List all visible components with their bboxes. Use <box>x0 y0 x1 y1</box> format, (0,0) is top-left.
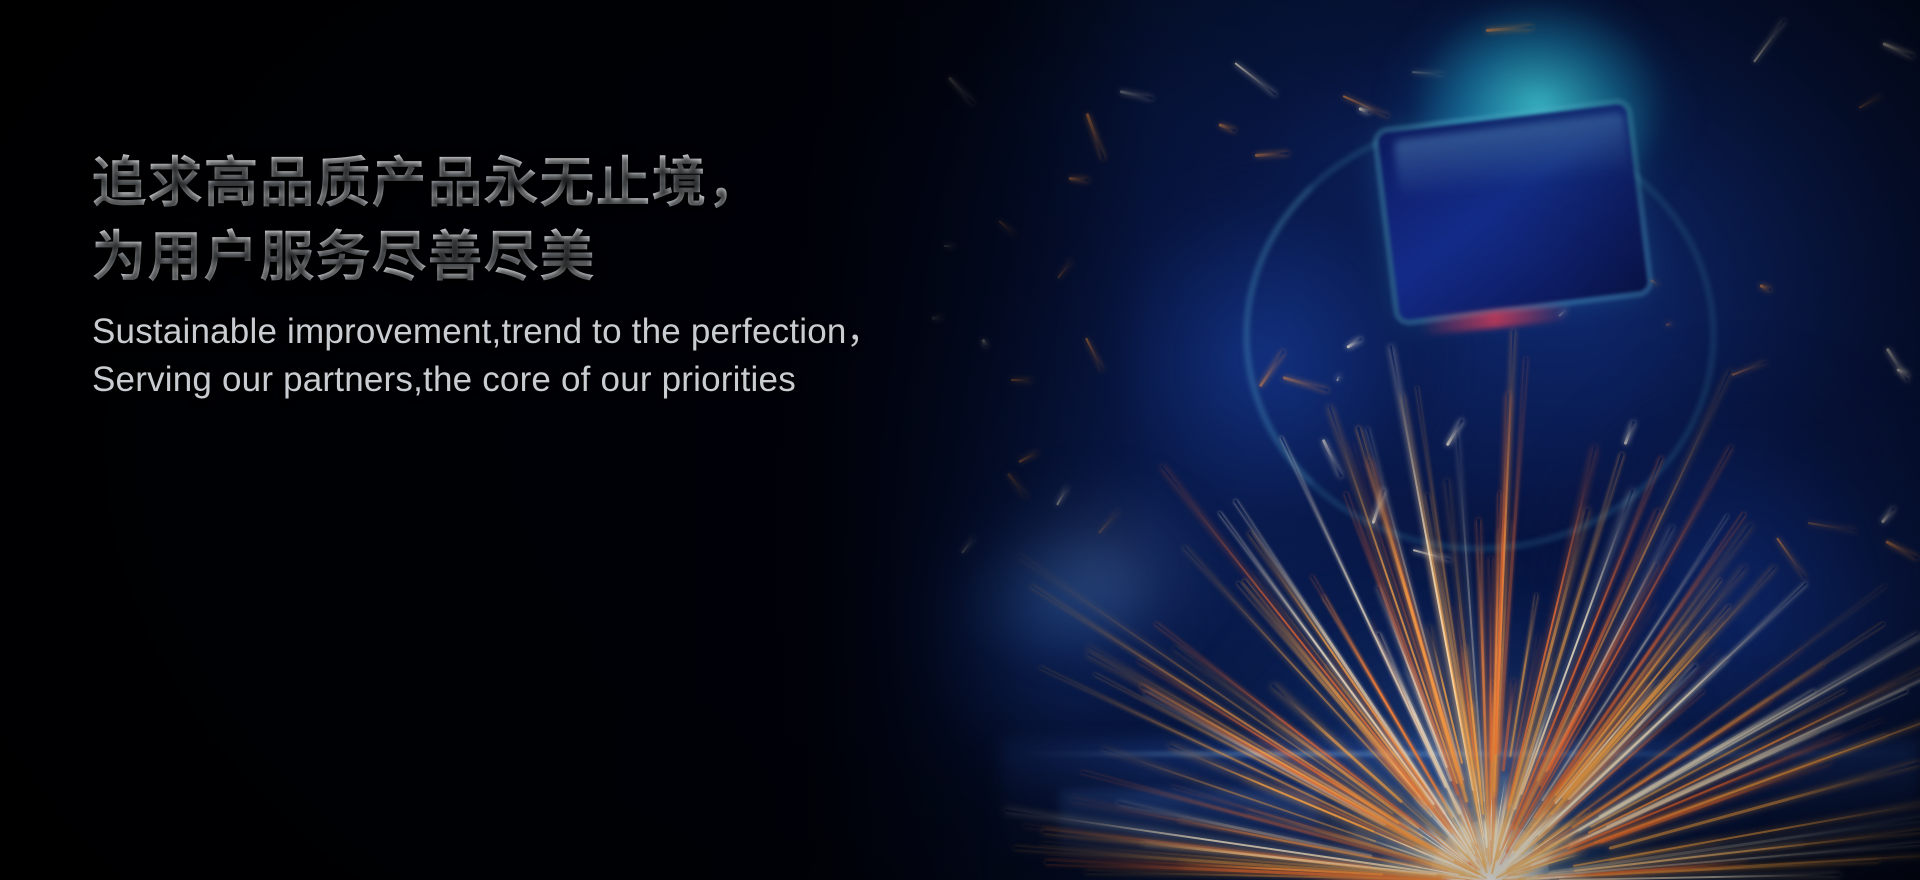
spark <box>1500 845 1538 873</box>
ember <box>1732 361 1767 376</box>
spark <box>1503 850 1550 875</box>
spark <box>1598 690 1815 819</box>
spark <box>1539 563 1659 787</box>
spark <box>1381 732 1473 858</box>
spark <box>1495 452 1623 860</box>
spark <box>1086 653 1480 876</box>
spark <box>1577 606 1920 832</box>
spark <box>1590 689 1846 827</box>
spark <box>1515 862 1549 873</box>
spark <box>1085 871 1444 880</box>
spark <box>1045 861 1480 880</box>
spark <box>1219 512 1435 805</box>
spark <box>1161 466 1434 810</box>
spark <box>1140 685 1470 871</box>
spark <box>1449 837 1480 870</box>
spark <box>1440 872 1481 880</box>
spark <box>1406 667 1452 781</box>
spark <box>1494 774 1507 851</box>
welding-helmet-visor-gloss <box>1393 112 1631 200</box>
spark <box>1520 834 1571 864</box>
spark <box>1519 873 1562 879</box>
spark <box>1045 856 1398 877</box>
spark <box>1351 833 1452 869</box>
spark <box>1524 761 1599 844</box>
spark <box>1492 729 1502 839</box>
ember <box>1776 537 1806 578</box>
spark <box>1373 738 1452 834</box>
ember <box>1120 90 1154 100</box>
spark <box>1243 580 1451 834</box>
spark <box>1504 848 1574 877</box>
subtitle-line-1: Sustainable improvement,trend to the per… <box>92 308 1072 356</box>
spark <box>1506 706 1577 847</box>
spark <box>1536 369 1731 781</box>
spark <box>1490 804 1508 875</box>
ember <box>1086 113 1106 160</box>
spark <box>1402 395 1479 815</box>
spark <box>1570 742 1605 784</box>
spark <box>1545 527 1673 773</box>
spark <box>1609 839 1719 861</box>
spark <box>1521 823 1560 856</box>
spark <box>1524 853 1578 871</box>
spark <box>1422 867 1475 878</box>
spark <box>1508 820 1556 864</box>
spark <box>1368 619 1481 860</box>
spark <box>1458 828 1476 856</box>
ember <box>1098 510 1119 534</box>
spark <box>1505 445 1732 853</box>
spark <box>1483 830 1487 848</box>
spark <box>1042 830 1480 880</box>
spark <box>1554 578 1721 796</box>
spark <box>1457 818 1472 844</box>
spark <box>1492 804 1498 845</box>
spark <box>1507 523 1752 858</box>
spark <box>1071 799 1466 877</box>
spark <box>1568 689 1907 846</box>
spark <box>1559 635 1674 789</box>
spark <box>1465 647 1481 787</box>
spark <box>1519 841 1576 868</box>
spark <box>1521 490 1634 795</box>
spark <box>1489 556 1491 865</box>
spark <box>1576 650 1802 818</box>
spark <box>1247 811 1465 875</box>
spark <box>1501 659 1550 837</box>
spark <box>1497 832 1543 875</box>
spark <box>1442 861 1486 880</box>
spark <box>1574 830 1920 872</box>
spark <box>1454 605 1475 759</box>
spark <box>1513 684 1650 852</box>
spark <box>1431 847 1454 862</box>
spark <box>1479 848 1487 868</box>
spark <box>1465 810 1485 866</box>
spark <box>1546 658 1728 829</box>
workpiece-table <box>1000 740 1920 880</box>
spark <box>1421 821 1465 859</box>
spark <box>1487 807 1491 867</box>
spark <box>1479 551 1490 862</box>
spark <box>1005 809 1453 876</box>
spark <box>1416 847 1483 879</box>
spark <box>1500 635 1540 829</box>
ember <box>1255 152 1289 157</box>
spark <box>1415 796 1468 855</box>
spark <box>1491 828 1500 869</box>
spark <box>1439 845 1487 879</box>
ember <box>1283 376 1329 392</box>
banner-copy: 追求高品质产品永无止境， 为用户服务尽善尽美 Sustainable impro… <box>92 146 1072 404</box>
spark <box>1588 665 1920 833</box>
spark <box>1467 805 1486 867</box>
spark <box>1506 796 1720 877</box>
spark <box>1509 593 1537 756</box>
spark <box>1571 622 1885 829</box>
spark <box>1117 802 1372 858</box>
background-base <box>0 0 1920 880</box>
spark <box>1040 843 1446 878</box>
spark <box>1486 810 1490 861</box>
spark <box>1509 836 1586 872</box>
subtitle-line-2: Serving our partners,the core of our pri… <box>92 356 1072 404</box>
spark <box>1373 831 1450 865</box>
ember <box>1759 284 1771 291</box>
spark <box>1609 762 1920 850</box>
ember <box>1259 350 1286 387</box>
spark <box>1522 623 1622 817</box>
spark <box>1464 822 1485 868</box>
spark <box>1426 494 1487 856</box>
ember <box>1666 322 1673 326</box>
spark <box>1561 811 1643 849</box>
ember <box>1007 473 1028 498</box>
spark <box>1094 673 1477 874</box>
spark <box>1483 816 1488 845</box>
spark <box>1243 776 1428 855</box>
spark <box>1086 644 1386 820</box>
spark <box>1553 566 1745 802</box>
spark <box>1546 632 1919 849</box>
spark <box>1254 573 1428 800</box>
spark <box>1522 877 1563 880</box>
ember <box>1859 94 1883 109</box>
spark <box>1531 626 1687 828</box>
spark <box>1537 582 1807 836</box>
spark <box>1234 500 1446 815</box>
spark <box>1492 492 1500 763</box>
spark <box>1024 825 1372 867</box>
spark <box>1416 386 1484 835</box>
spark <box>1428 626 1463 764</box>
ember <box>1234 62 1276 96</box>
weld-smoke-plume <box>930 420 1260 720</box>
spark <box>1182 546 1432 817</box>
spark <box>1501 855 1551 877</box>
welding-helmet-red-stripe <box>1419 302 1570 336</box>
spark <box>1512 509 1660 831</box>
spark <box>1385 860 1459 875</box>
spark <box>1272 753 1454 860</box>
spark <box>1430 856 1473 874</box>
spark <box>1424 828 1467 863</box>
spark <box>1426 543 1483 838</box>
spark <box>1248 531 1427 789</box>
ember <box>1346 337 1362 348</box>
spark <box>1496 848 1552 878</box>
spark <box>1040 666 1448 861</box>
spark <box>1473 768 1484 838</box>
spark <box>1425 669 1458 772</box>
ember <box>1896 368 1909 376</box>
spark <box>1449 786 1479 855</box>
spark <box>1493 330 1514 793</box>
spark <box>1543 584 1886 841</box>
spark <box>1321 775 1400 825</box>
spark <box>1514 823 1573 864</box>
ember <box>1412 71 1444 75</box>
ember <box>948 76 975 104</box>
spark <box>1525 874 1587 880</box>
spark <box>1455 848 1471 863</box>
spark <box>1493 393 1509 755</box>
spark <box>1173 647 1416 828</box>
spark <box>1513 790 1554 848</box>
spark <box>1314 723 1442 838</box>
spark <box>1431 845 1471 869</box>
ember <box>1886 348 1909 382</box>
spark <box>1452 841 1474 864</box>
ember <box>1085 338 1103 371</box>
spark <box>1368 460 1464 786</box>
spark <box>1401 844 1477 877</box>
spark <box>1491 694 1493 760</box>
spark <box>1497 795 1508 845</box>
spark <box>1498 838 1509 860</box>
spark <box>1280 436 1447 788</box>
spark <box>1154 623 1471 867</box>
spark <box>1381 751 1421 799</box>
spark <box>1182 864 1383 876</box>
ember <box>1336 374 1341 381</box>
spark <box>1495 860 1530 879</box>
ember <box>1413 549 1451 561</box>
spark <box>1460 654 1476 770</box>
ember <box>1056 486 1068 505</box>
spark <box>1144 692 1387 826</box>
spark <box>1502 457 1663 850</box>
ember <box>1558 307 1568 316</box>
welder-glove <box>864 448 1237 753</box>
spark <box>1081 770 1449 871</box>
spark <box>1457 799 1479 850</box>
spark <box>1400 814 1463 861</box>
spark <box>1143 843 1437 876</box>
spark <box>1502 860 1879 880</box>
spark <box>1505 844 1555 873</box>
spark <box>1566 664 1696 801</box>
spark <box>1496 831 1512 865</box>
spark <box>1428 790 1476 860</box>
spark <box>1576 719 1883 846</box>
spark <box>1329 652 1479 865</box>
spark <box>1461 802 1477 844</box>
spark <box>1507 699 1772 871</box>
headline-line-1: 追求高品质产品永无止境， <box>92 146 1072 220</box>
spark <box>1178 820 1421 869</box>
spark <box>1349 443 1476 837</box>
spark <box>1237 582 1428 807</box>
spark <box>1501 680 1514 771</box>
spark <box>1390 346 1474 791</box>
spark <box>1507 446 1596 810</box>
ember <box>1322 439 1343 478</box>
spark <box>1019 555 1394 814</box>
spark <box>1559 873 1840 880</box>
spark <box>1030 585 1423 838</box>
spark <box>1502 856 1539 875</box>
spark <box>1491 829 1499 870</box>
spark <box>1491 609 1501 839</box>
spark <box>1482 757 1488 838</box>
spark <box>1543 783 1659 851</box>
spark <box>1529 703 1663 841</box>
spark <box>1528 834 1591 864</box>
workpiece-plate <box>1060 790 1320 860</box>
weld-arc-bloom <box>1170 560 1790 880</box>
spark <box>1443 831 1469 859</box>
spark <box>1448 803 1479 858</box>
spark <box>1357 427 1469 803</box>
spark <box>1269 717 1420 830</box>
spark <box>1399 820 1463 863</box>
spark <box>1507 855 1525 869</box>
spark <box>1491 821 1496 858</box>
spark <box>1102 748 1376 843</box>
spark <box>1595 864 1719 875</box>
spark <box>1537 862 1747 879</box>
spark <box>1014 847 1464 880</box>
spark <box>1503 829 1539 867</box>
spark <box>1319 829 1454 871</box>
spark <box>1508 820 1539 858</box>
spark <box>1448 826 1481 869</box>
spark <box>1565 633 1709 796</box>
ember <box>1358 107 1370 114</box>
ember <box>1372 489 1386 524</box>
spark <box>1455 868 1484 879</box>
spark <box>1382 876 1459 880</box>
spark <box>1470 703 1484 815</box>
spark <box>1511 810 1546 854</box>
spark <box>1356 728 1429 810</box>
spark <box>1502 845 1560 875</box>
welder-jacket-right <box>1480 300 1920 880</box>
spark <box>1447 867 1461 872</box>
spark <box>1427 828 1463 859</box>
welding-helmet <box>1290 0 1720 370</box>
spark <box>1473 791 1487 861</box>
ember <box>961 537 975 554</box>
spark <box>1260 738 1409 831</box>
spark <box>1578 664 1824 824</box>
spark <box>1456 432 1485 802</box>
workpiece-highlight-edge <box>1020 752 1920 756</box>
spark <box>1543 727 1651 831</box>
spark <box>1489 648 1500 864</box>
spark <box>1366 428 1463 781</box>
ember <box>1486 26 1533 32</box>
spark <box>1344 492 1459 796</box>
spark <box>1432 832 1477 870</box>
spark <box>1416 858 1465 875</box>
spark <box>1512 847 1574 873</box>
spark <box>1562 652 1718 809</box>
ember <box>1882 42 1914 58</box>
spark <box>1532 843 1920 878</box>
spark <box>1376 586 1447 768</box>
ember <box>1808 522 1857 532</box>
spark <box>1530 689 1704 845</box>
spark <box>1437 788 1471 847</box>
ember <box>1446 419 1464 446</box>
spark <box>1381 719 1473 856</box>
spark <box>1548 843 1803 875</box>
spark <box>1454 796 1475 844</box>
banner-subtitle: Sustainable improvement,trend to the per… <box>92 308 1072 404</box>
spark <box>1550 566 1776 815</box>
spark <box>1441 802 1473 851</box>
spark <box>1562 605 1730 798</box>
spark <box>1271 782 1414 847</box>
spark <box>1428 857 1462 871</box>
ember <box>1753 19 1785 62</box>
spark <box>1541 515 1728 802</box>
ember <box>1019 451 1038 463</box>
spark <box>1450 822 1481 867</box>
welding-helmet-rim <box>1245 120 1715 550</box>
ember <box>1218 123 1236 132</box>
spark <box>1496 785 1510 844</box>
spark <box>1463 832 1476 854</box>
weld-arc-haze <box>1080 430 1880 880</box>
headline-line-2: 为用户服务尽善尽美 <box>92 220 1072 294</box>
ember <box>1624 421 1636 445</box>
spark <box>1555 850 1920 878</box>
spark <box>1358 808 1478 875</box>
spark <box>1549 816 1920 874</box>
spark <box>1532 810 1589 852</box>
spark <box>1326 665 1474 859</box>
spark <box>1514 696 1554 810</box>
spark <box>1310 575 1444 802</box>
spark <box>1555 681 1659 804</box>
spark <box>1513 868 1544 876</box>
spark <box>1491 807 1499 858</box>
spark <box>1458 679 1479 803</box>
spark <box>1171 786 1450 870</box>
left-blackout-gradient <box>0 0 1920 880</box>
spark <box>1291 769 1437 852</box>
spark <box>1475 844 1483 861</box>
spark <box>1137 660 1399 824</box>
spark <box>1499 601 1655 865</box>
spark <box>1490 680 1494 855</box>
spark <box>1490 792 1492 840</box>
spark <box>1530 855 1553 865</box>
